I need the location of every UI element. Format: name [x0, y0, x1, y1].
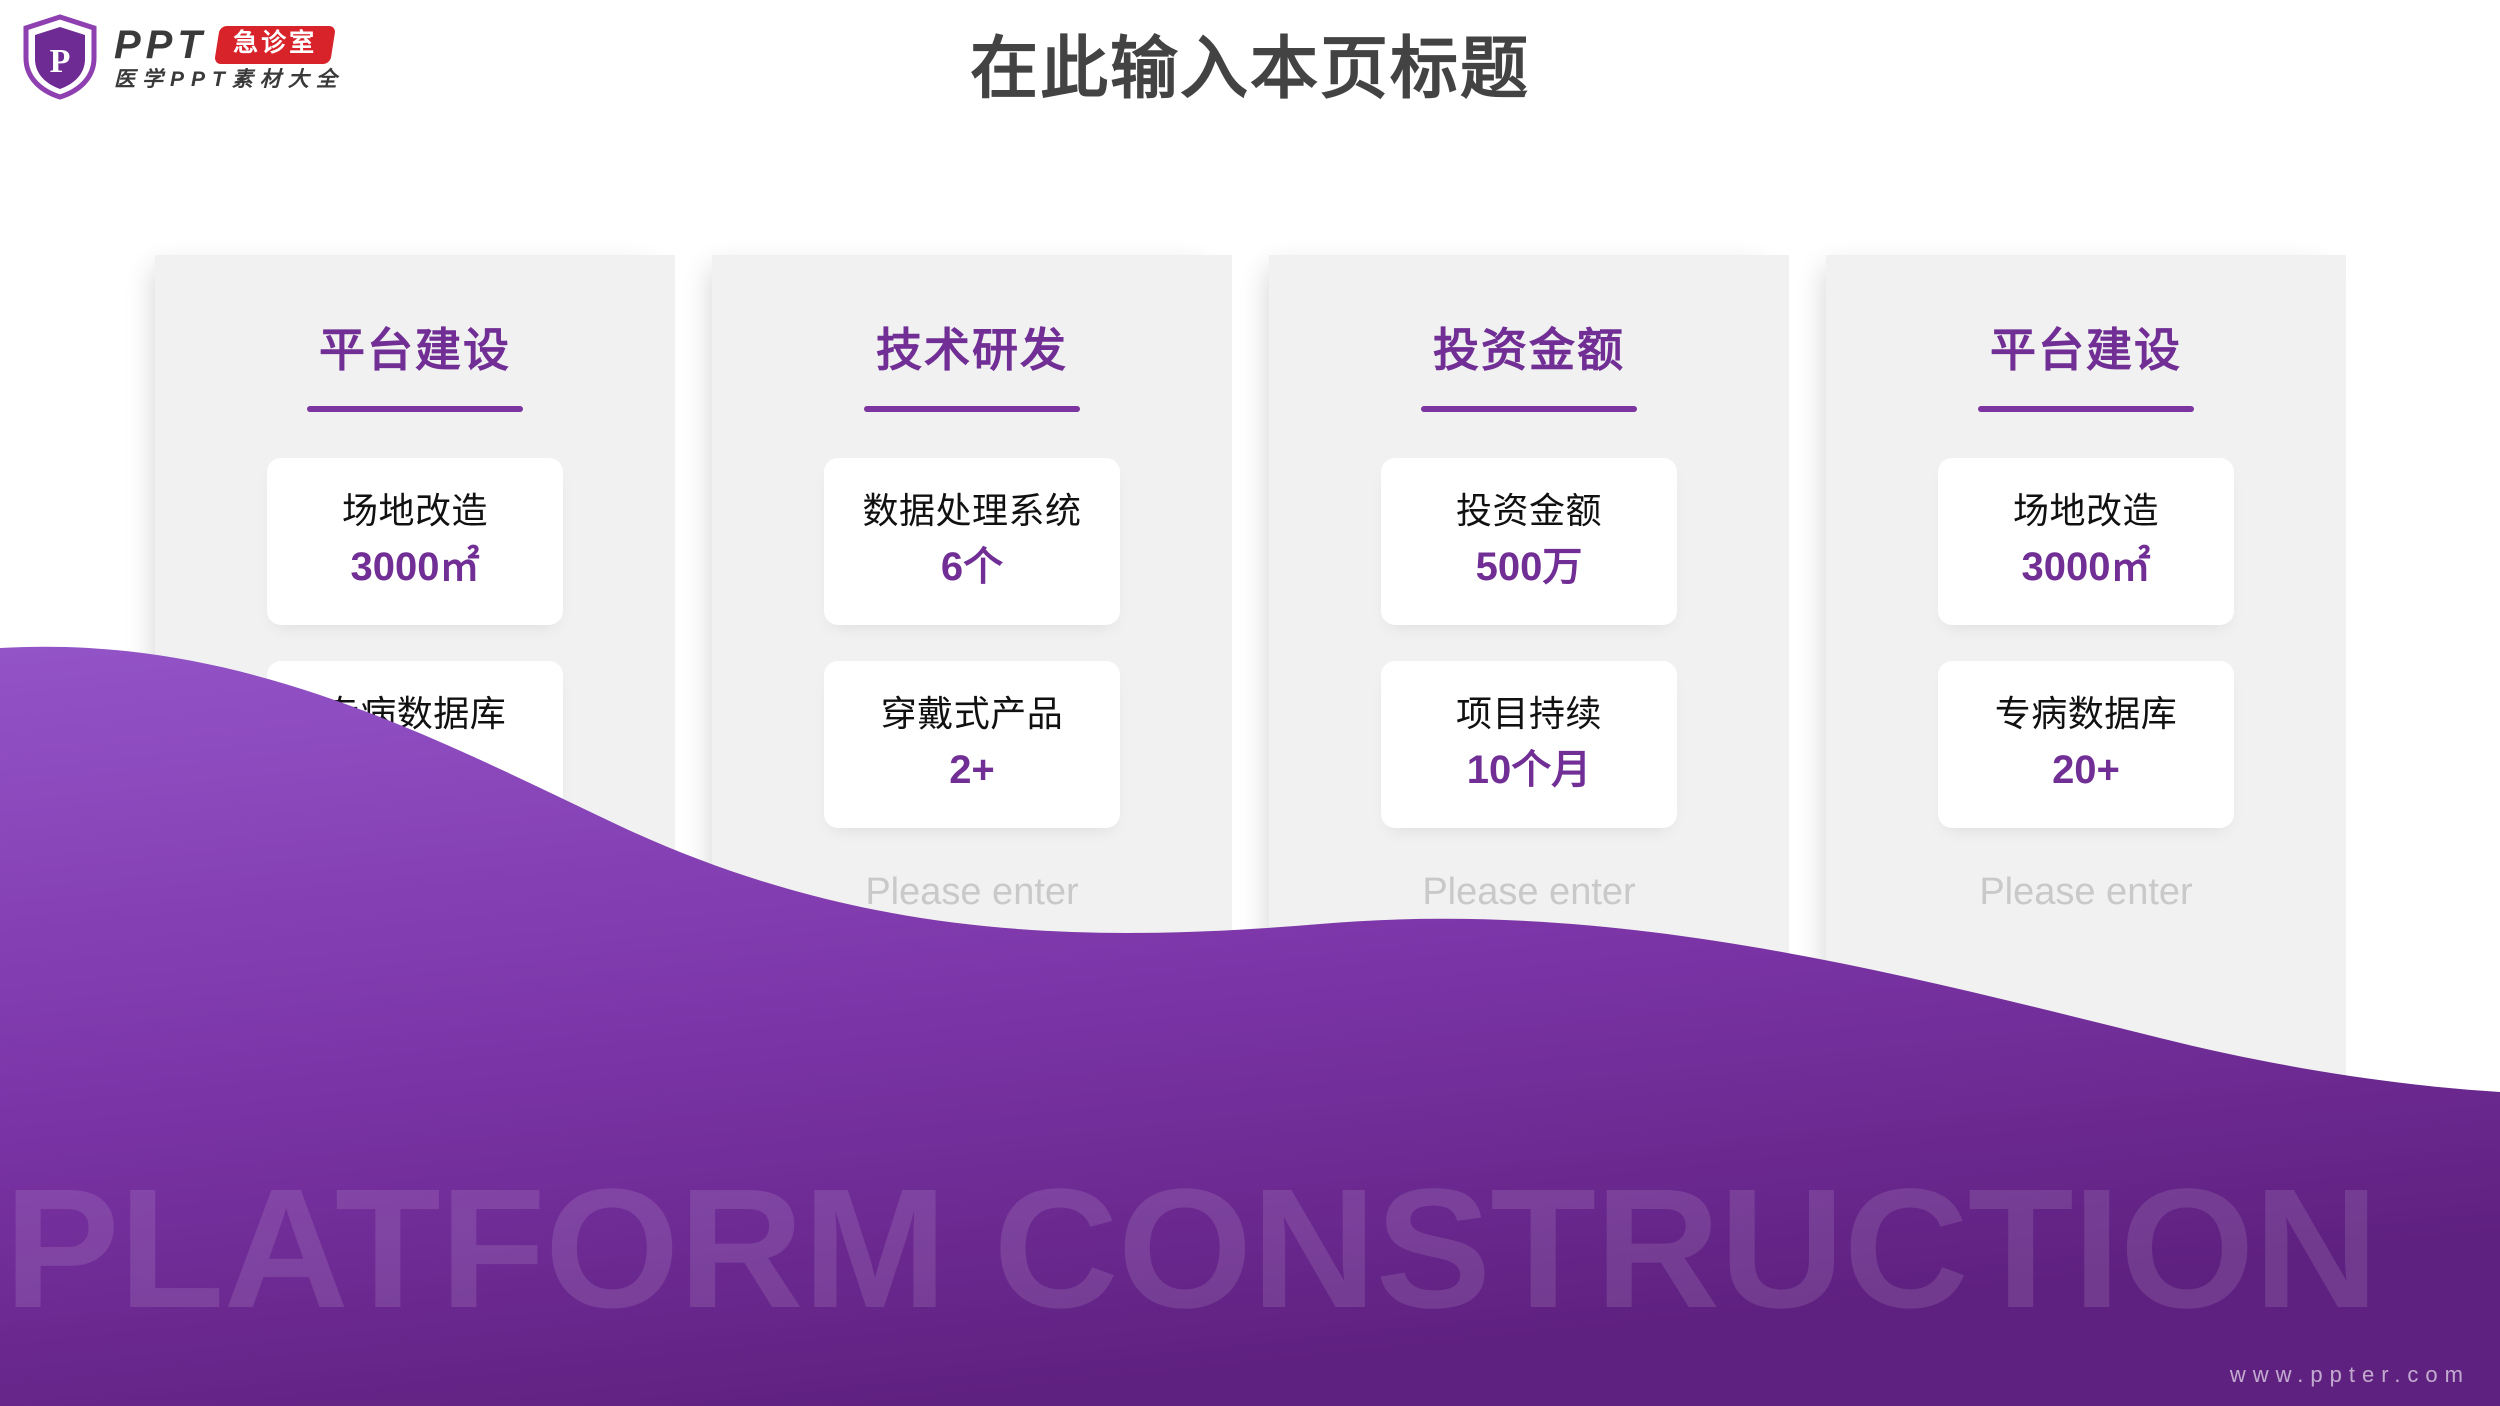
card-rule [307, 406, 523, 412]
card-rule [1978, 406, 2194, 412]
card-heading: 投资金额 [1269, 255, 1789, 376]
card-rule [1421, 406, 1637, 412]
website-watermark: www.ppter.com [2230, 1362, 2470, 1388]
card-heading: 平台建设 [1826, 255, 2346, 376]
card-heading: 技术研发 [712, 255, 1232, 376]
card-rule [864, 406, 1080, 412]
card-heading: 平台建设 [155, 255, 675, 376]
slide-canvas: P PPT 急诊室 医学PPT素材大全 在此输入本页标题 平台建设 场地改造 3… [0, 0, 2500, 1406]
page-title: 在此输入本页标题 [0, 32, 2500, 107]
footer-banner-word: PLATFORM CONSTRUCTION [4, 1164, 2500, 1334]
